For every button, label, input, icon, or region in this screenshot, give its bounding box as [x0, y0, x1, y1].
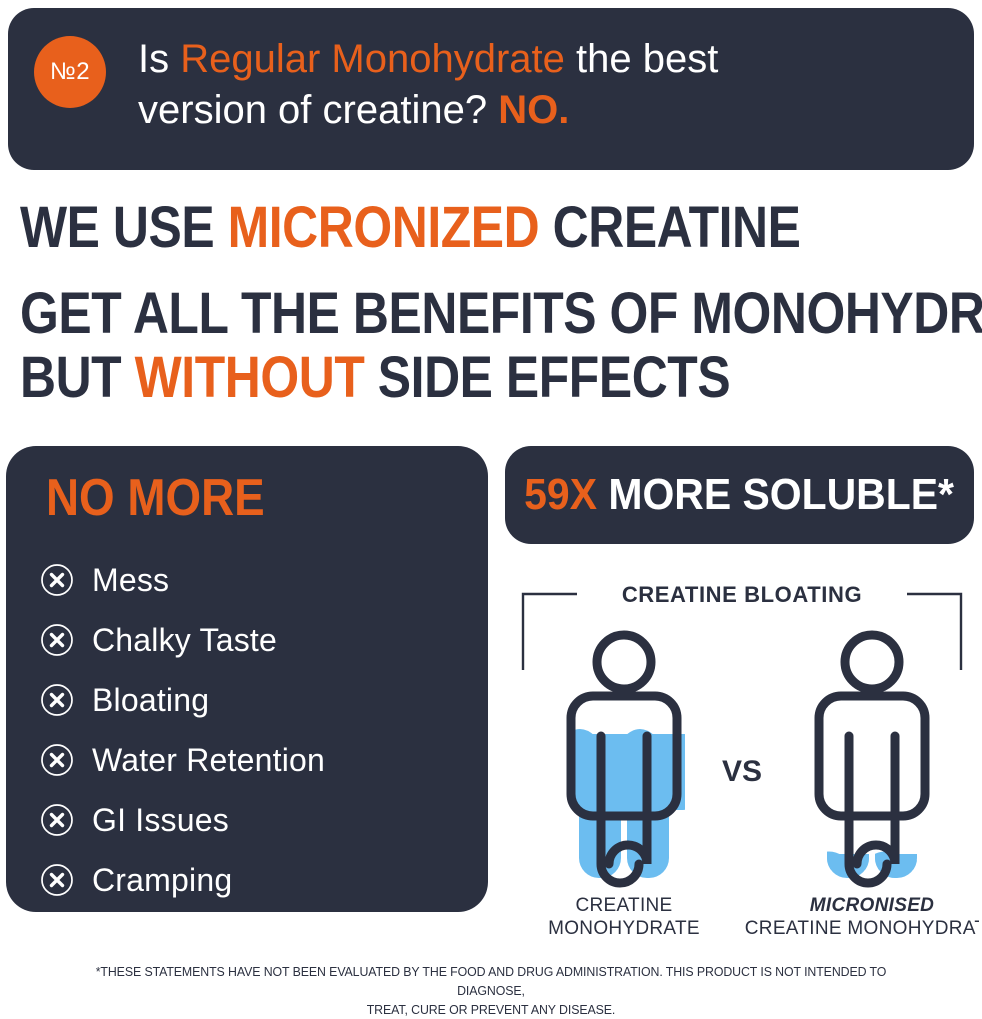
list-item: Water Retention — [40, 730, 468, 790]
question-line1-part2: the best — [565, 37, 718, 81]
figure-creatine-monohydrate — [565, 635, 685, 894]
circle-x-icon — [40, 563, 74, 597]
footer-disclaimer: *THESE STATEMENTS HAVE NOT BEEN EVALUATE… — [82, 962, 901, 1019]
number-badge: №2 — [34, 36, 106, 108]
right-caption-line2: CREATINE MONOHYDRATE — [745, 918, 979, 939]
question-line1-highlight: Regular Monohydrate — [180, 37, 565, 81]
figure-micronised-creatine — [815, 635, 935, 894]
footer-line-1: *THESE STATEMENTS HAVE NOT BEEN EVALUATE… — [82, 962, 901, 1000]
question-line2-highlight: NO. — [498, 88, 569, 132]
vs-label: VS — [722, 755, 762, 788]
right-caption-line1: MICRONISED — [810, 895, 934, 916]
list-item-label: Chalky Taste — [92, 622, 277, 659]
question-line2-part1: version of creatine? — [138, 88, 498, 132]
question-line1-part1: Is — [138, 37, 180, 81]
circle-x-icon — [40, 803, 74, 837]
list-item-label: Cramping — [92, 862, 232, 899]
headline-line-2: GET ALL THE BENEFITS OF MONOHYDRATE, — [20, 282, 837, 346]
headline-block: WE USE MICRONIZED CREATINE GET ALL THE B… — [20, 196, 970, 410]
headline-1-part2: CREATINE — [539, 195, 800, 260]
number-badge-label: №2 — [50, 58, 90, 86]
headline-3-part1: BUT — [20, 345, 135, 410]
soluble-rest: MORE SOLUBLE* — [597, 470, 954, 519]
headline-1-highlight: MICRONIZED — [228, 195, 540, 260]
list-item-label: Mess — [92, 562, 169, 599]
bloating-diagram: CREATINE BLOATING VS — [505, 566, 979, 946]
left-caption-line2: MONOHYDRATE — [548, 918, 700, 939]
no-more-title: NO MORE — [46, 470, 265, 526]
soluble-panel: 59X MORE SOLUBLE* — [505, 446, 974, 544]
no-more-list: Mess Chalky Taste Bloating — [40, 550, 468, 910]
no-more-panel: NO MORE Mess Chalky Taste — [6, 446, 488, 912]
list-item: Mess — [40, 550, 468, 610]
circle-x-icon — [40, 623, 74, 657]
left-caption-line1: CREATINE — [575, 895, 672, 916]
headline-3-highlight: WITHOUT — [135, 345, 365, 410]
list-item: Chalky Taste — [40, 610, 468, 670]
list-item-label: Water Retention — [92, 742, 325, 779]
list-item-label: Bloating — [92, 682, 209, 719]
bracket-label: CREATINE BLOATING — [622, 582, 862, 607]
question-panel: №2 Is Regular Monohydrate the best versi… — [8, 8, 974, 170]
list-item: Cramping — [40, 850, 468, 910]
list-item: GI Issues — [40, 790, 468, 850]
circle-x-icon — [40, 683, 74, 717]
soluble-title: 59X MORE SOLUBLE* — [525, 470, 955, 520]
list-item-label: GI Issues — [92, 802, 229, 839]
question-headline: Is Regular Monohydrate the best version … — [138, 34, 948, 136]
soluble-multiplier: 59X — [525, 470, 598, 519]
headline-1-part1: WE USE — [20, 195, 228, 260]
circle-x-icon — [40, 743, 74, 777]
headline-line-1: WE USE MICRONIZED CREATINE — [20, 196, 837, 260]
headline-3-part2: SIDE EFFECTS — [364, 345, 730, 410]
list-item: Bloating — [40, 670, 468, 730]
circle-x-icon — [40, 863, 74, 897]
headline-line-3: BUT WITHOUT SIDE EFFECTS — [20, 346, 837, 410]
